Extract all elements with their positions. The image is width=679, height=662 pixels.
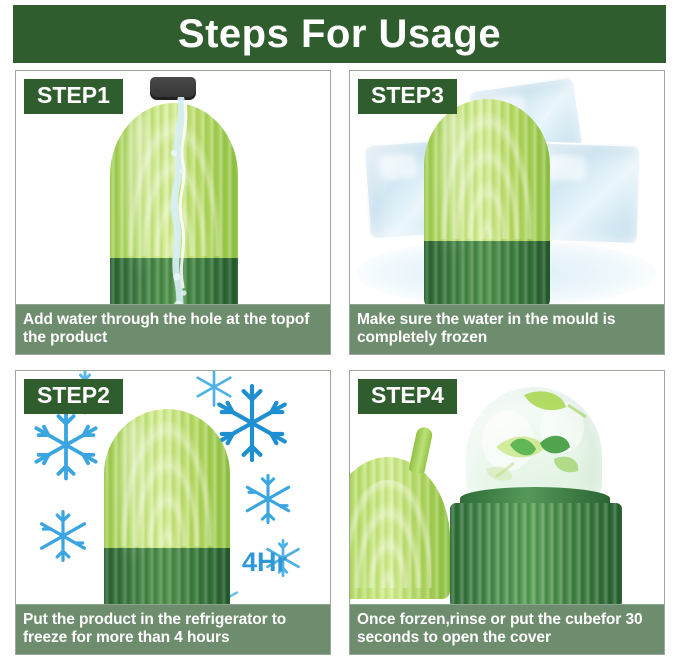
step-badge-4: STEP4: [358, 379, 457, 414]
step2-caption: Put the product in the refrigerator to f…: [16, 604, 330, 654]
panel-step4: STEP4 Once forzen,rinse or put the cubef…: [349, 370, 665, 655]
product-base: [450, 503, 622, 615]
step4-caption: Once forzen,rinse or put the cubefor 30 …: [350, 604, 664, 654]
page-title: Steps For Usage: [178, 14, 501, 54]
snowflake-icon: [28, 407, 104, 483]
step3-caption: Make sure the water in the mould is comp…: [350, 304, 664, 354]
step-badge-3: STEP3: [358, 79, 457, 114]
capsule-light-top: [110, 103, 238, 261]
capsule-dark-base: [424, 241, 550, 311]
panel-step3: STEP3 Make sure the water in the mould i…: [349, 70, 665, 355]
snowflake-icon: [240, 471, 296, 527]
step1-caption: Add water through the hole at the topof …: [16, 304, 330, 354]
stopper-cap-icon: [150, 77, 196, 100]
panel-step2: 4Hr STEP2 Put the product in the refrige…: [15, 370, 331, 655]
capsule-light-top: [104, 409, 230, 550]
page-header: Steps For Usage: [13, 5, 666, 63]
duration-label: 4Hr: [242, 547, 287, 578]
capsule-light-top: [424, 99, 550, 243]
product-cover: [349, 457, 450, 599]
panel-step1: STEP1 Add water through the hole at the …: [15, 70, 331, 355]
frozen-herbs-icon: [466, 387, 602, 499]
product-capsule: [424, 99, 550, 311]
product-capsule: [104, 409, 230, 617]
frozen-ice-dome: [466, 387, 602, 499]
step-badge-1: STEP1: [24, 79, 123, 114]
product-capsule: [110, 103, 238, 335]
step-badge-2: STEP2: [24, 379, 123, 414]
snowflake-icon: [34, 507, 92, 565]
infographic-page: Steps For Usage STEP: [0, 0, 679, 662]
snowflake-icon: [192, 370, 236, 409]
